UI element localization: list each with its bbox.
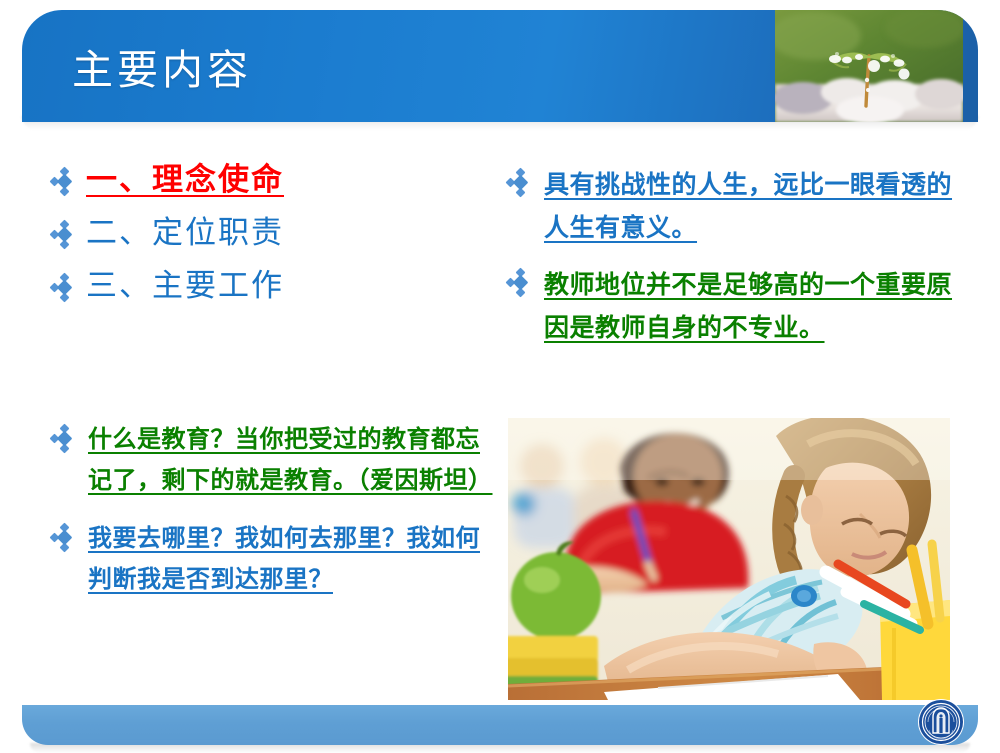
index-item-text-1: 一、理念使命 (86, 162, 284, 197)
quote-list-top-right: 具有挑战性的人生，远比一眼看透的人生有意义。 教师地位并不是足够高的一个重要原因… (508, 164, 970, 364)
classroom-photo (508, 418, 950, 700)
list-item[interactable]: 什么是教育？当你把受过的教育都忘记了，剩下的就是教育。（爱因斯坦） (52, 420, 504, 503)
slide-canvas: 主要内容 (0, 0, 1000, 750)
index-list: 一、理念使命 二、定位职责 三、主要工作 (52, 164, 472, 323)
quote-text-three-questions: 我要去哪里？我如何去那里？我如何判断我是否到达那里？ (88, 519, 504, 602)
quote-text-einstein-education: 什么是教育？当你把受过的教育都忘记了，剩下的就是教育。（爱因斯坦） (88, 420, 504, 503)
index-item-label: 二、定位职责 (86, 217, 472, 248)
diamond-bullet-icon (508, 170, 534, 196)
quote-list-bottom-left: 什么是教育？当你把受过的教育都忘记了，剩下的就是教育。（爱因斯坦） 我要去哪里？… (52, 420, 504, 617)
list-item[interactable]: 具有挑战性的人生，远比一眼看透的人生有意义。 (508, 164, 970, 250)
diamond-bullet-icon (508, 270, 534, 296)
footer-bar (22, 705, 978, 745)
university-emblem-icon (916, 697, 966, 747)
list-item[interactable]: 一、理念使命 (52, 164, 472, 195)
header-bar: 主要内容 (22, 10, 978, 122)
list-item[interactable]: 教师地位并不是足够高的一个重要原因是教师自身的不专业。 (508, 264, 970, 350)
list-item[interactable]: 我要去哪里？我如何去那里？我如何判断我是否到达那里？ (52, 519, 504, 602)
diamond-bullet-icon (52, 275, 78, 301)
quote-text-challenging-life: 具有挑战性的人生，远比一眼看透的人生有意义。 (544, 164, 970, 250)
index-item-label: 三、主要工作 (86, 270, 472, 301)
diamond-bullet-icon (52, 426, 78, 452)
diamond-bullet-icon (52, 222, 78, 248)
list-item[interactable]: 三、主要工作 (52, 270, 472, 301)
index-item-label: 一、理念使命 (86, 164, 472, 195)
page-title: 主要内容 (72, 50, 252, 91)
seedling-photo (775, 10, 963, 122)
list-item[interactable]: 二、定位职责 (52, 217, 472, 248)
quote-text-teacher-status: 教师地位并不是足够高的一个重要原因是教师自身的不专业。 (544, 264, 970, 350)
slide-footer (22, 705, 978, 747)
diamond-bullet-icon (52, 169, 78, 195)
diamond-bullet-icon (52, 525, 78, 551)
index-item-text-2: 二、定位职责 (86, 215, 284, 250)
slide-header: 主要内容 (22, 10, 978, 126)
index-item-text-3: 三、主要工作 (86, 268, 284, 303)
